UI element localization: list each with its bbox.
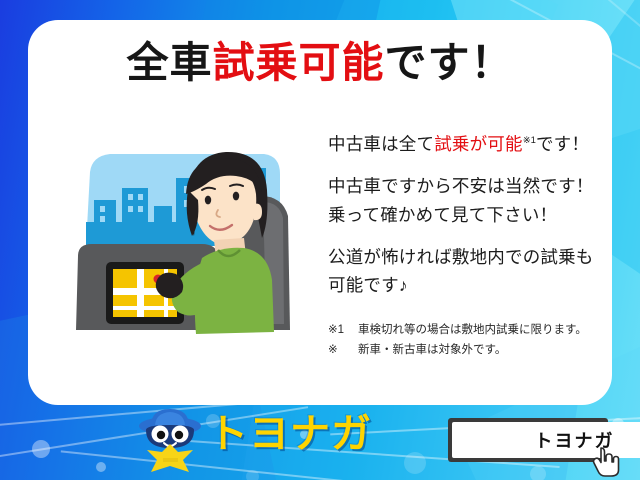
headline-highlight: 試乗可能 — [212, 39, 384, 86]
brand-logo-text: トヨナガ — [208, 414, 372, 454]
search-widget[interactable] — [448, 418, 608, 462]
footnote-1-text: 車検切れ等の場合は敷地内試乗に限ります。 — [358, 324, 587, 336]
page-title: 全車試乗可能です！ — [28, 42, 612, 84]
p3-line-2: 可能です♪ — [328, 271, 628, 299]
p2-line-2: 乗って確かめて見て下さい！ — [328, 201, 628, 229]
body-copy: 中古車は全て試乗が可能※1です！ 中古車ですから不安は当然です！ 乗って確かめて… — [328, 130, 628, 360]
p2-line-1: 中古車ですから不安は当然です！ — [328, 172, 628, 200]
driver-eye-right — [233, 192, 239, 201]
paragraph-3: 公道が怖ければ敷地内での試乗も 可能です♪ — [328, 243, 628, 300]
advertisement-banner: 全車試乗可能です！ — [0, 0, 640, 480]
footnote-2-text: 新車・新古車は対象外です。 — [358, 344, 506, 356]
footnote-2: ※新車・新古車は対象外です。 — [328, 340, 628, 360]
driver-shirt — [195, 248, 274, 334]
p1-highlight: 試乗が可能 — [434, 134, 523, 154]
footnote-1-mark: ※1 — [328, 320, 358, 340]
content-card: 全車試乗可能です！ — [28, 20, 612, 405]
footnote-1: ※1車検切れ等の場合は敷地内試乗に限ります。 — [328, 320, 628, 340]
p1-lead: 中古車は全て — [328, 134, 434, 154]
footnotes: ※1車検切れ等の場合は敷地内試乗に限ります。 ※新車・新古車は対象外です。 — [328, 320, 628, 360]
toyonaga-mascot-icon — [137, 406, 203, 476]
search-input[interactable] — [452, 422, 640, 458]
headline-tail: です！ — [385, 39, 514, 86]
driver-eye-left — [205, 196, 211, 205]
paragraph-1: 中古車は全て試乗が可能※1です！ — [328, 130, 628, 158]
p1-tail: です！ — [536, 134, 589, 154]
p3-line-1: 公道が怖ければ敷地内での試乗も — [328, 243, 628, 271]
brand-bar: トヨナガ — [0, 402, 640, 480]
footnote-2-mark: ※ — [328, 340, 358, 360]
p1-superscript: ※1 — [523, 135, 536, 146]
headline-lead: 全車 — [126, 39, 212, 86]
paragraph-2: 中古車ですから不安は当然です！ 乗って確かめて見て下さい！ — [328, 172, 628, 229]
driving-illustration — [68, 138, 316, 338]
